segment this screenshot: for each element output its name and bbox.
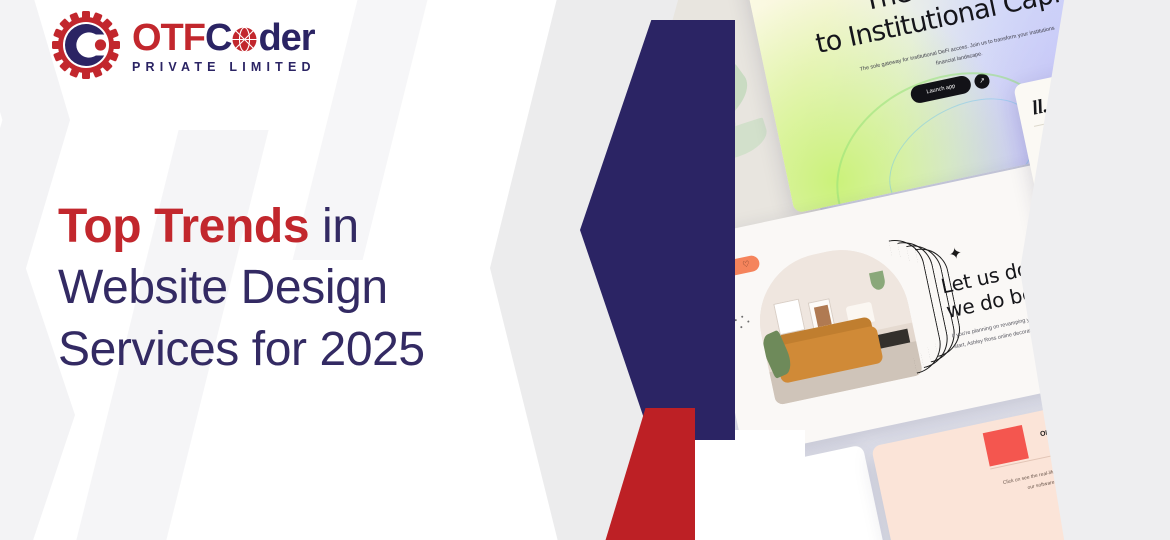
- headline-line-1: Top Trends in: [58, 196, 528, 257]
- headline-accent: Top Trends: [58, 200, 309, 253]
- logo-otf: OTF: [132, 17, 205, 59]
- globe-o-icon: [231, 22, 258, 49]
- headline-line1-rest: in: [309, 200, 359, 253]
- logo-c: C: [205, 17, 231, 59]
- news-red-block: [983, 425, 1029, 467]
- logo-wordmark: OTFCder: [132, 19, 316, 57]
- heart-icon: ♡: [742, 260, 751, 269]
- gear-c-logo-icon: [52, 11, 120, 79]
- headline-line-2: Website Design: [58, 257, 528, 318]
- sparkle-icon: ✦: [948, 246, 964, 264]
- page-title: Top Trends in Website Design Services fo…: [58, 196, 528, 380]
- headline-line-3: Services for 2025: [58, 319, 528, 380]
- logo-tagline: PRIVATE LIMITED: [132, 60, 316, 74]
- otfcoder-logo[interactable]: OTFCder PRIVATE LIMITED: [52, 9, 352, 81]
- blog-banner: OTFCder PRIVATE LIMITED Top Trends in We…: [0, 0, 1170, 540]
- logo-der: der: [258, 17, 314, 59]
